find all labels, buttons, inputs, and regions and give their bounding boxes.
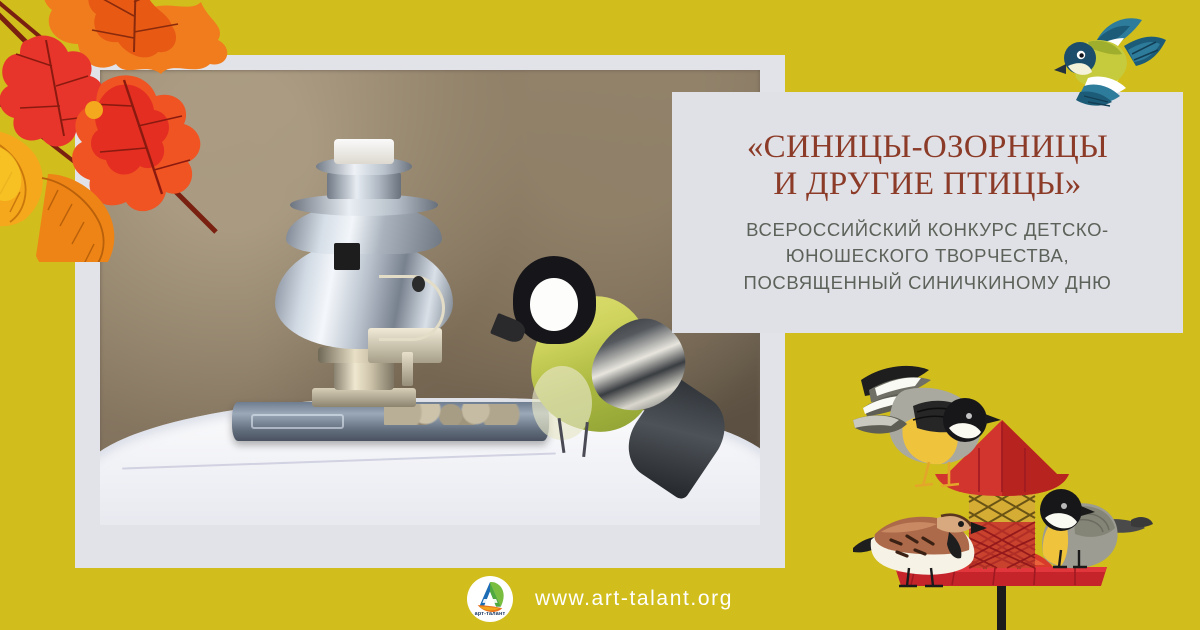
flying-bird-icon: [1048, 12, 1178, 112]
samovar-tray: [232, 402, 549, 441]
poster-canvas: «Синицы-озорницы и другие птицы» Всеросс…: [0, 0, 1200, 630]
website-url: www.art-talant.org: [535, 587, 733, 611]
title-panel: «Синицы-озорницы и другие птицы» Всеросс…: [672, 92, 1183, 333]
autumn-leaves-icon: [0, 0, 236, 262]
samovar-knob: [412, 276, 425, 292]
footer-bar: арт-талант www.art-talant.org: [0, 568, 1200, 630]
feeder-bird-great-tit: [1040, 489, 1153, 568]
bird-cheek: [530, 278, 578, 330]
page-title: «Синицы-озорницы и другие птицы»: [747, 129, 1108, 203]
samovar-cap: [334, 139, 393, 164]
art-talant-logo[interactable]: арт-талант: [467, 576, 513, 622]
samovar-stem: [334, 360, 393, 390]
page-subtitle: Всероссийский конкурс детско- юношеского…: [744, 217, 1112, 296]
samovar-lid-grip: [334, 243, 360, 270]
samovar: [272, 134, 457, 407]
logo-wordmark: арт-талант: [467, 611, 513, 617]
samovar-foot: [312, 388, 415, 407]
sunflower-seeds: [384, 404, 523, 424]
samovar-neck: [327, 172, 401, 199]
